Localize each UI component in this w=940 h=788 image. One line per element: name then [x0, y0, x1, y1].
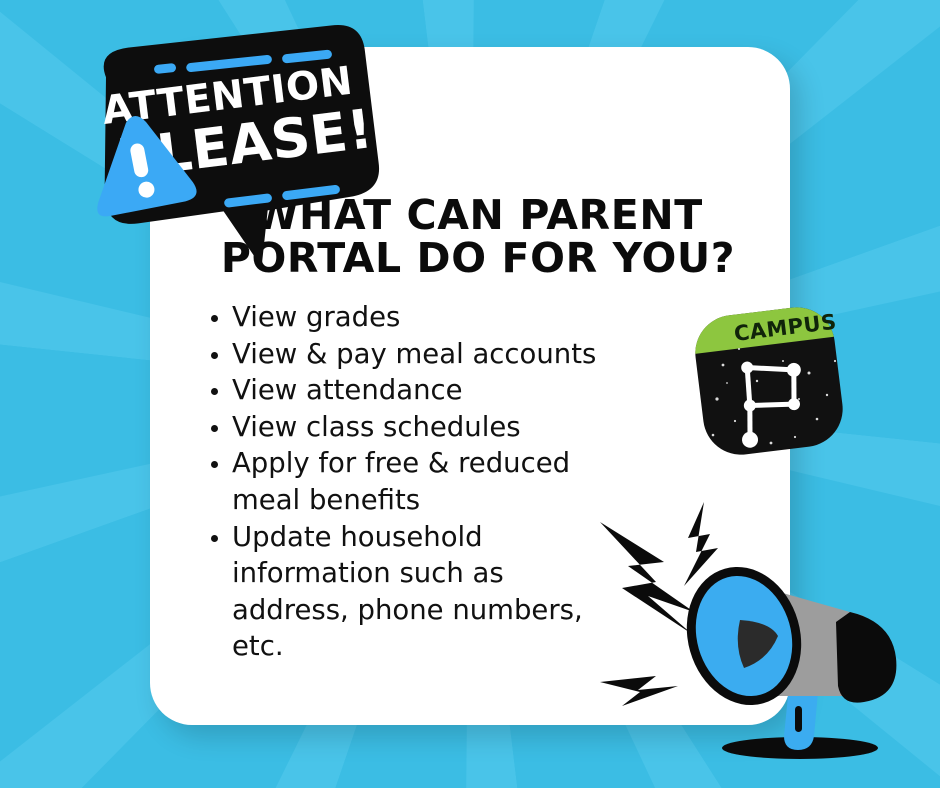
- campus-app-icon[interactable]: CAMPUS: [687, 303, 857, 468]
- megaphone-cap: [836, 612, 896, 703]
- list-item: View attendance: [205, 372, 597, 409]
- poster-canvas: WHAT CAN PARENT PORTAL DO FOR YOU? View …: [0, 0, 940, 788]
- feature-list: View grades View & pay meal accounts Vie…: [205, 299, 597, 665]
- list-item: View grades: [205, 299, 597, 336]
- handle-grip: [795, 706, 802, 732]
- attention-badge: ATTENTION PLEASE!: [76, 30, 406, 280]
- megaphone-illustration: [592, 500, 922, 775]
- bolt-top-icon: [684, 502, 718, 586]
- bolt-small-icon: [600, 676, 678, 706]
- list-item: View & pay meal accounts: [205, 336, 597, 373]
- list-item: Apply for free & reduced meal benefits: [205, 445, 597, 518]
- list-item: View class schedules: [205, 409, 597, 446]
- bolt-large-icon: [600, 522, 694, 634]
- list-item: Update household information such as add…: [205, 519, 597, 665]
